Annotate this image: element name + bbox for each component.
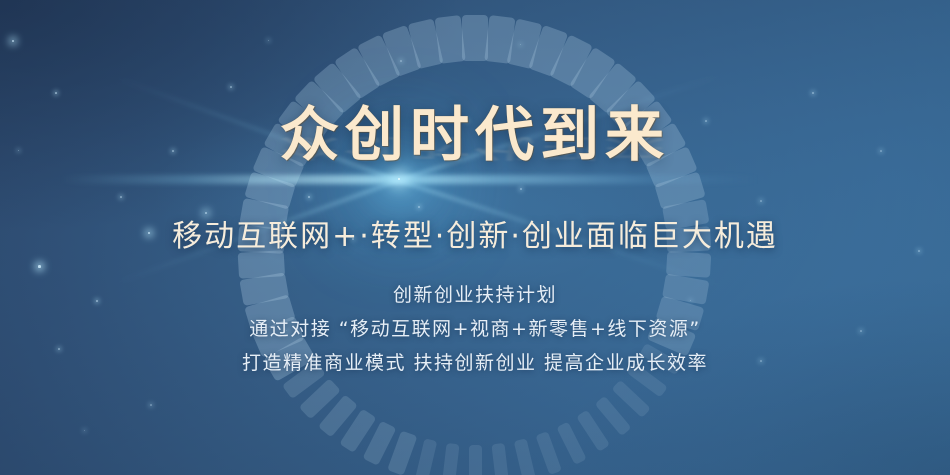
detail-line-3: 打造精准商业模式 扶持创新创业 提高企业成长效率 (0, 348, 950, 375)
detail-line-2: 通过对接 “移动互联网+视商+新零售+线下资源” (0, 314, 950, 341)
banner-subheadline: 移动互联网+·转型·创新·创业面临巨大机遇 (0, 211, 950, 255)
banner-headline: 众创时代到来 (0, 104, 950, 166)
banner-content: 众创时代到来 众创时代到来 移动互联网+·转型·创新·创业面临巨大机遇 创新创业… (0, 0, 950, 475)
detail-line-1: 创新创业扶持计划 (0, 280, 950, 307)
promo-banner: 众创时代到来 众创时代到来 移动互联网+·转型·创新·创业面临巨大机遇 创新创业… (0, 0, 950, 475)
